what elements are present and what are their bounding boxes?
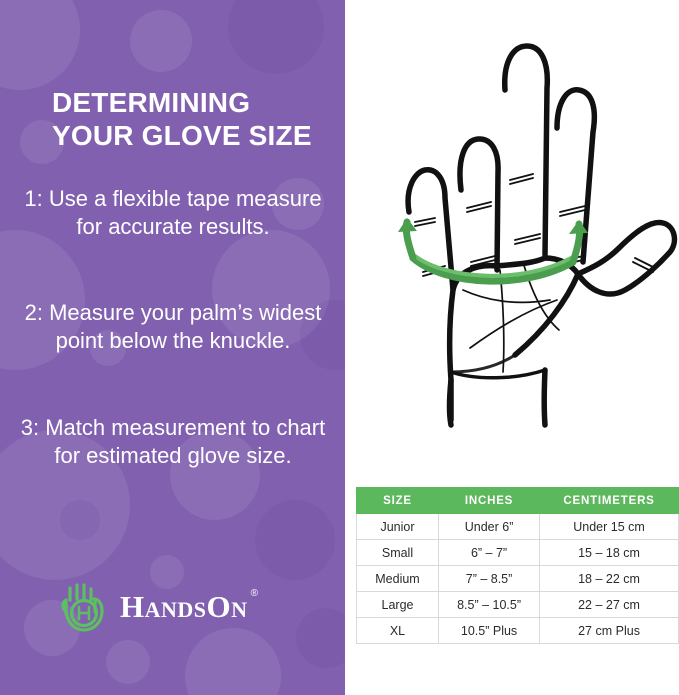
instruction-step-1: 1: Use a flexible tape measure for accur… <box>18 185 328 240</box>
cell-inches: 6” – 7” <box>439 540 540 566</box>
table-row: Medium 7” – 8.5” 18 – 22 cm <box>357 566 679 592</box>
hand-illustration-area <box>345 0 679 480</box>
cell-size: XL <box>357 618 439 644</box>
page-title: DETERMINING YOUR GLOVE SIZE <box>52 86 332 152</box>
table-row: XL 10.5” Plus 27 cm Plus <box>357 618 679 644</box>
cell-centimeters: 27 cm Plus <box>540 618 679 644</box>
cell-size: Large <box>357 592 439 618</box>
column-header-inches: INCHES <box>439 488 540 514</box>
open-palm-hand-diagram <box>345 0 679 480</box>
purple-info-panel: DETERMINING YOUR GLOVE SIZE 1: Use a fle… <box>0 0 345 695</box>
cell-centimeters: Under 15 cm <box>540 514 679 540</box>
cell-size: Junior <box>357 514 439 540</box>
page-title-line-1: DETERMINING <box>52 86 332 119</box>
cell-centimeters: 18 – 22 cm <box>540 566 679 592</box>
logo-wordmark-text: HandsOn <box>120 589 248 624</box>
handson-logo: HandsOn ® <box>58 578 248 634</box>
cell-size: Medium <box>357 566 439 592</box>
table-row: Junior Under 6” Under 15 cm <box>357 514 679 540</box>
cell-inches: 7” – 8.5” <box>439 566 540 592</box>
table-row: Small 6” – 7” 15 – 18 cm <box>357 540 679 566</box>
cell-centimeters: 22 – 27 cm <box>540 592 679 618</box>
table-row: Large 8.5” – 10.5” 22 – 27 cm <box>357 592 679 618</box>
column-header-size: SIZE <box>357 488 439 514</box>
hand-circle-logo-icon <box>58 578 110 634</box>
cell-inches: Under 6” <box>439 514 540 540</box>
cell-centimeters: 15 – 18 cm <box>540 540 679 566</box>
cell-inches: 10.5” Plus <box>439 618 540 644</box>
registered-trademark-icon: ® <box>251 589 259 599</box>
table-header-row: SIZE INCHES CENTIMETERS <box>357 488 679 514</box>
page-title-line-2: YOUR GLOVE SIZE <box>52 119 332 152</box>
logo-wordmark: HandsOn ® <box>120 591 248 622</box>
glove-size-chart: SIZE INCHES CENTIMETERS Junior Under 6” … <box>356 487 679 644</box>
cell-inches: 8.5” – 10.5” <box>439 592 540 618</box>
glove-size-guide-page: DETERMINING YOUR GLOVE SIZE 1: Use a fle… <box>0 0 679 695</box>
cell-size: Small <box>357 540 439 566</box>
column-header-centimeters: CENTIMETERS <box>540 488 679 514</box>
instruction-step-2: 2: Measure your palm’s widest point belo… <box>18 299 328 354</box>
instruction-step-3: 3: Match measurement to chart for estima… <box>18 414 328 469</box>
